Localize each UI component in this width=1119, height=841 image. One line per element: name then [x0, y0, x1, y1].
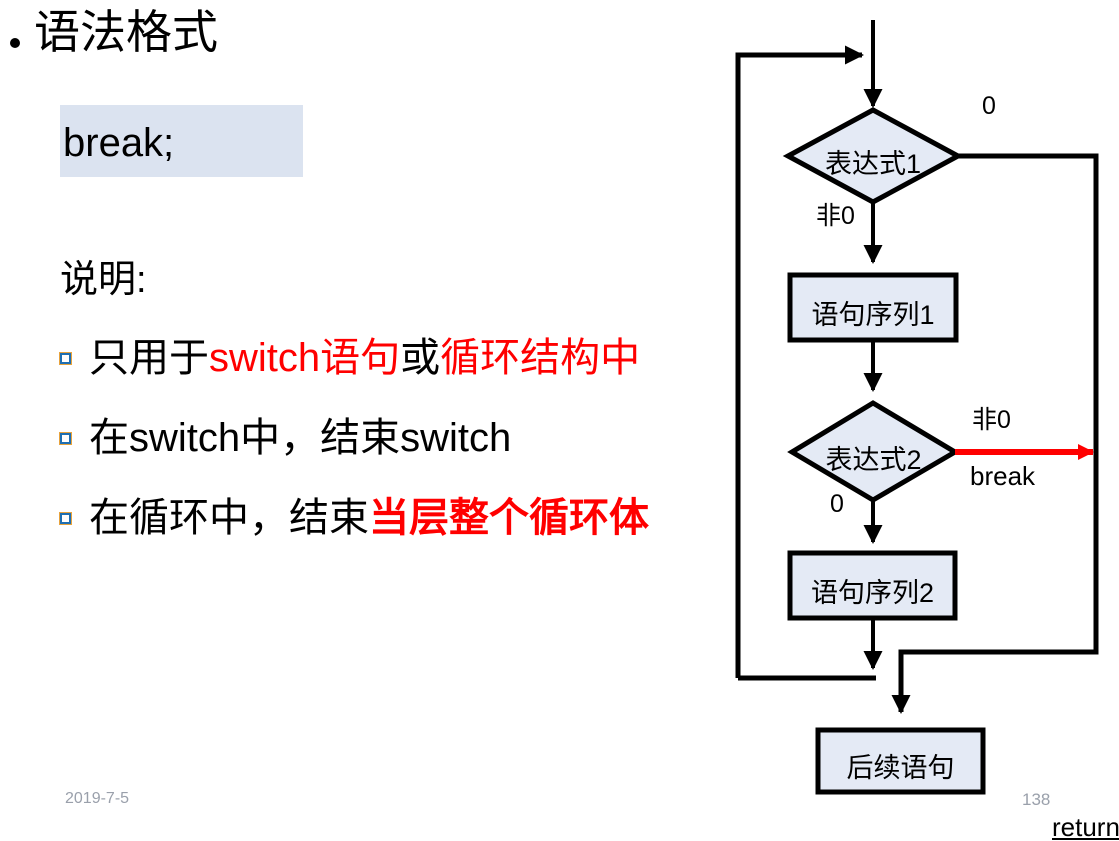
bullet-dot-icon [10, 38, 20, 48]
text-run: 在switch中，结束switch [89, 416, 511, 460]
flow-decision-2 [792, 403, 955, 500]
text-run: switch语句 [209, 336, 400, 380]
slide-canvas: 语法格式 break; 说明: 只用于switch语句或循环结构中 在switc… [0, 0, 1119, 841]
flow-process-2 [790, 553, 955, 618]
edge-d1-false [901, 156, 1096, 712]
square-bullet-icon [60, 433, 71, 444]
return-link[interactable]: return [1052, 812, 1119, 841]
flow-process-1 [790, 275, 956, 340]
flow-next-statement [818, 730, 983, 792]
flow-process-1-label: 语句序列1 [790, 293, 956, 332]
edge-loop-back [738, 55, 862, 678]
bullet-list: 只用于switch语句或循环结构中 在switch中，结束switch 在循环中… [60, 322, 740, 562]
flow-next-statement-label: 后续语句 [818, 746, 983, 785]
flow-decision-1-label: 表达式1 [788, 142, 958, 181]
code-snippet: break; [60, 112, 303, 174]
list-item-label: 在switch中，结束switch [89, 417, 511, 459]
text-run: 只用于 [89, 336, 209, 380]
text-run: 循环结构中 [440, 336, 640, 380]
list-item: 在循环中，结束当层整个循环体 [60, 482, 740, 554]
page-title: 语法格式 [10, 8, 218, 56]
edge-label-d1-false: 0 [982, 92, 996, 121]
footer-page-number: 138 [1022, 790, 1050, 810]
list-item-label: 只用于switch语句或循环结构中 [89, 337, 640, 379]
list-item: 只用于switch语句或循环结构中 [60, 322, 740, 394]
footer-date: 2019-7-5 [65, 790, 129, 808]
square-bullet-icon [60, 353, 71, 364]
text-run: 当层整个循环体 [369, 496, 649, 540]
text-run: 在循环中，结束 [89, 496, 369, 540]
edge-label-d1-true: 非0 [816, 196, 855, 232]
edge-label-d2-true: 非0 [972, 400, 1011, 436]
flow-process-2-label: 语句序列2 [790, 571, 955, 610]
text-run: 或 [400, 336, 440, 380]
flow-decision-1 [788, 110, 958, 202]
list-item: 在switch中，结束switch [60, 402, 740, 474]
square-bullet-icon [60, 513, 71, 524]
page-title-text: 语法格式 [34, 8, 218, 56]
flow-decision-2-label: 表达式2 [792, 438, 955, 477]
list-item-label: 在循环中，结束当层整个循环体 [89, 497, 649, 539]
note-label: 说明: [60, 248, 147, 303]
edge-label-break: break [970, 461, 1035, 492]
edge-label-d2-false: 0 [830, 490, 844, 519]
